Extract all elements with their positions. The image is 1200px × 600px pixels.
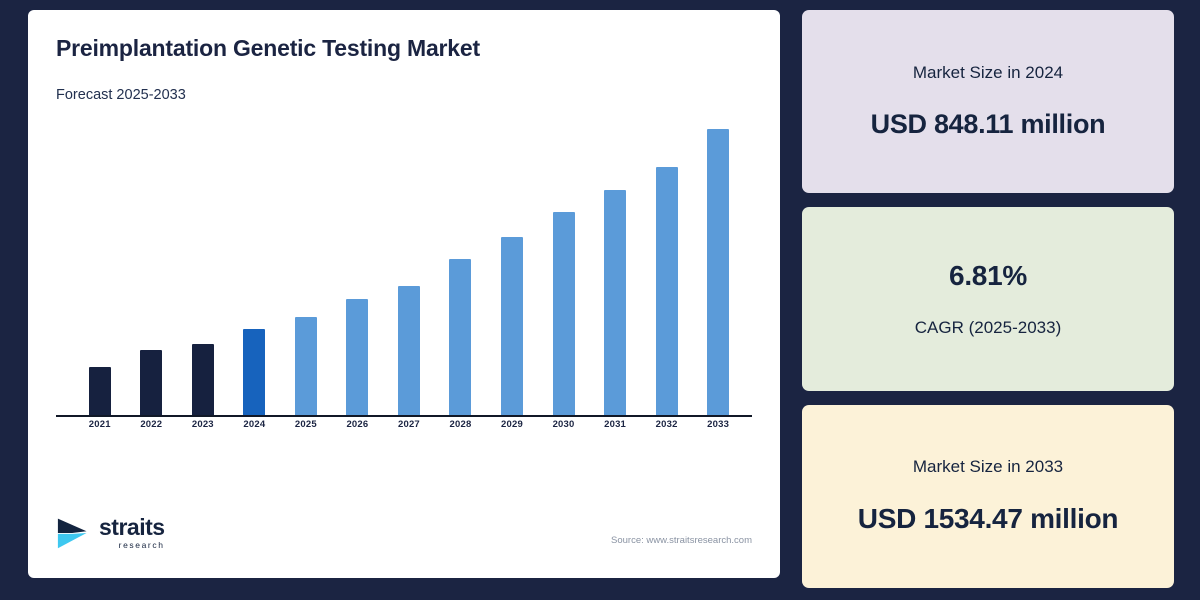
bar — [656, 167, 678, 417]
bar-slot — [332, 109, 384, 417]
bar-slot — [486, 109, 538, 417]
bar — [89, 367, 111, 417]
bar — [243, 329, 265, 417]
x-axis-tick: 2033 — [692, 419, 744, 430]
x-axis-tick: 2032 — [641, 419, 693, 430]
bar — [192, 344, 214, 417]
source-text: Source: www.straitsresearch.com — [611, 535, 752, 550]
stat-label: Market Size in 2024 — [913, 63, 1063, 83]
bar-slot — [692, 109, 744, 417]
brand-logo: straits research — [56, 516, 165, 550]
x-axis-tick-labels: 2021202220232024202520262027202820292030… — [74, 419, 744, 439]
x-axis-line — [56, 415, 752, 417]
bar-series — [74, 109, 744, 417]
bar — [604, 190, 626, 417]
bar-slot — [280, 109, 332, 417]
bar-slot — [74, 109, 126, 417]
stat-label: CAGR (2025-2033) — [915, 318, 1061, 338]
bar — [140, 350, 162, 417]
straits-arrow-icon — [56, 516, 92, 550]
bar-slot — [538, 109, 590, 417]
stat-card-market-size-2024: Market Size in 2024 USD 848.11 million — [802, 10, 1174, 193]
bar — [295, 317, 317, 417]
stat-card-market-size-2033: Market Size in 2033 USD 1534.47 million — [802, 405, 1174, 588]
x-axis-tick: 2022 — [126, 419, 178, 430]
bar — [553, 212, 575, 417]
x-axis-tick: 2028 — [435, 419, 487, 430]
chart-subtitle: Forecast 2025-2033 — [56, 87, 752, 103]
bar-slot — [229, 109, 281, 417]
stat-card-cagr: 6.81% CAGR (2025-2033) — [802, 207, 1174, 390]
stat-label: Market Size in 2033 — [913, 457, 1063, 477]
x-axis-tick: 2029 — [486, 419, 538, 430]
stat-value: USD 1534.47 million — [858, 503, 1118, 535]
x-axis-tick: 2031 — [589, 419, 641, 430]
x-axis-tick: 2025 — [280, 419, 332, 430]
stat-value: USD 848.11 million — [871, 109, 1106, 140]
brand-logo-text: straits research — [99, 516, 165, 550]
brand-tagline: research — [119, 541, 165, 550]
x-axis-tick: 2023 — [177, 419, 229, 430]
bar — [707, 129, 729, 417]
x-axis-tick: 2027 — [383, 419, 435, 430]
bar — [501, 237, 523, 417]
page-title: Preimplantation Genetic Testing Market — [56, 36, 752, 61]
bar-slot — [641, 109, 693, 417]
stat-value: 6.81% — [949, 260, 1027, 292]
stats-panel: Market Size in 2024 USD 848.11 million 6… — [802, 10, 1174, 588]
bar — [449, 259, 471, 417]
infographic-page: Preimplantation Genetic Testing Market F… — [0, 0, 1200, 600]
x-axis-tick: 2030 — [538, 419, 590, 430]
bar — [398, 286, 420, 417]
bar-slot — [177, 109, 229, 417]
bar-chart-plot: 2021202220232024202520262027202820292030… — [56, 109, 752, 439]
bar-slot — [435, 109, 487, 417]
bar — [346, 299, 368, 417]
brand-name: straits — [99, 516, 165, 539]
x-axis-tick: 2024 — [229, 419, 281, 430]
chart-card: Preimplantation Genetic Testing Market F… — [28, 10, 780, 578]
bar-slot — [383, 109, 435, 417]
x-axis-tick: 2021 — [74, 419, 126, 430]
x-axis-tick: 2026 — [332, 419, 384, 430]
bar-slot — [126, 109, 178, 417]
bar-slot — [589, 109, 641, 417]
chart-footer: straits research Source: www.straitsrese… — [56, 516, 752, 568]
